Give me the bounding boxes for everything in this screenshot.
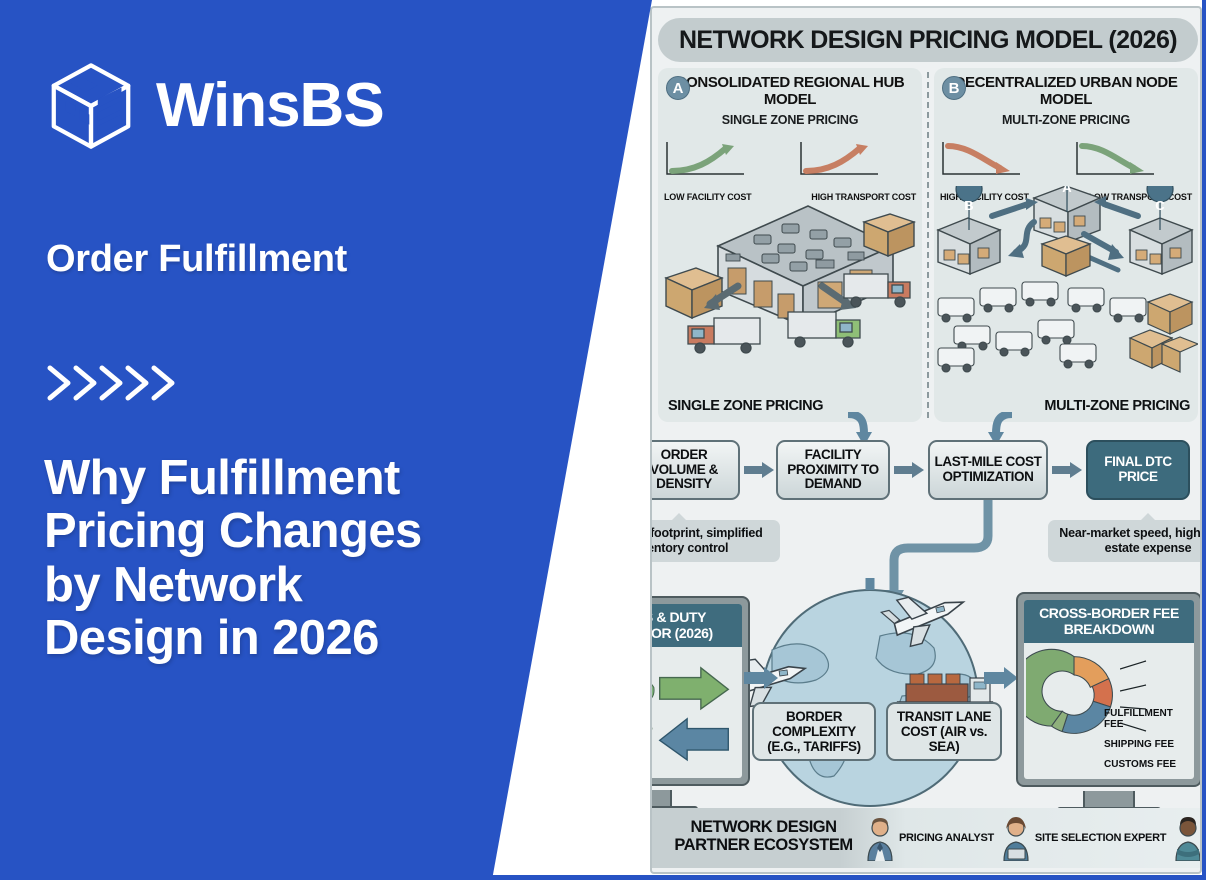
- customs-screen: CUSTOMS & DUTY CALCULATOR (2026): [650, 604, 742, 778]
- panel-b-minicharts: HIGH FACILITY COST LOW TRANSPORT COST: [940, 140, 1192, 188]
- model-comparison-panels: A CONSOLIDATED REGIONAL HUB MODEL SINGLE…: [658, 68, 1198, 422]
- persona-pricing-analyst[interactable]: PRICING ANALYST: [864, 817, 994, 861]
- brand-lockup[interactable]: WinsBS: [48, 62, 384, 150]
- globe-transit-illustration: [720, 578, 1020, 808]
- partner-ecosystem-footer: NETWORK DESIGN PARTNER ECOSYSTEM PRICING…: [652, 808, 1202, 868]
- legend-item-customs-fee: CUSTOMS FEE: [1104, 760, 1190, 771]
- cross-border-fee-monitor[interactable]: CROSS-BORDER FEE BREAKDOWN: [1016, 592, 1202, 787]
- flow-step-order-volume[interactable]: ORDER VOLUME & DENSITY: [650, 440, 740, 500]
- man-arms-crossed-avatar-icon: [1172, 817, 1202, 861]
- pill-border-complexity[interactable]: BORDER COMPLEXITY (E.G., TARIFFS): [752, 702, 876, 761]
- panel-a-subtitle: SINGLE ZONE PRICING: [658, 113, 922, 127]
- customs-to-globe-arrow-icon: [744, 666, 780, 690]
- minichart-high-transport-cost: HIGH TRANSPORT COST: [798, 140, 916, 188]
- flow-step-facility-proximity[interactable]: FACILITY PROXIMITY TO DEMAND: [776, 440, 890, 500]
- persona-site-selection-expert-label: SITE SELECTION EXPERT: [1035, 833, 1166, 845]
- legend-item-shipping-fee: SHIPPING FEE: [1104, 740, 1190, 751]
- fee-donut-chart: [1026, 647, 1122, 743]
- panel-b-subtitle: MULTI-ZONE PRICING: [934, 113, 1198, 127]
- panel-b-badge: B: [942, 76, 966, 100]
- pill-transit-lane-cost[interactable]: TRANSIT LANE COST (AIR vs. SEA): [886, 702, 1002, 761]
- persona-pricing-analyst-label: PRICING ANALYST: [899, 833, 994, 845]
- customs-duty-calculator-monitor[interactable]: CUSTOMS & DUTY CALCULATOR (2026): [650, 596, 750, 786]
- woman-laptop-avatar-icon: [1000, 817, 1032, 861]
- panel-decentralized-urban-node[interactable]: B DECENTRALIZED URBAN NODE MODEL MULTI-Z…: [934, 68, 1198, 422]
- panel-a-header: A CONSOLIDATED REGIONAL HUB MODEL SINGLE…: [658, 74, 922, 127]
- panel-a-title: CONSOLIDATED REGIONAL HUB MODEL: [658, 74, 922, 108]
- fee-legend: FULFILLMENT FEE SHIPPING FEE CUSTOMS FEE…: [1104, 709, 1190, 779]
- minichart-low-facility-cost: LOW FACILITY COST: [664, 140, 782, 188]
- footer-title: NETWORK DESIGN PARTNER ECOSYSTEM: [666, 818, 861, 855]
- legend-item-fulfillment-fee: FULFILLMENT FEE: [1104, 709, 1190, 731]
- globe-to-fee-arrow-icon: [984, 666, 1020, 690]
- customs-panel-title: CUSTOMS & DUTY CALCULATOR (2026): [650, 604, 742, 647]
- persona-tech-integrator[interactable]: TECH INTEGRATOR: [1172, 817, 1202, 861]
- warehouse-illustration: [658, 186, 922, 386]
- infographic-frame: NETWORK DESIGN PRICING MODEL (2026) A CO…: [650, 6, 1202, 874]
- panel-consolidated-regional-hub[interactable]: A CONSOLIDATED REGIONAL HUB MODEL SINGLE…: [658, 68, 922, 422]
- flow-to-globe-pipe: [788, 500, 1048, 610]
- flow-arrow-2-icon: [894, 462, 924, 478]
- fee-screen: CROSS-BORDER FEE BREAKDOWN: [1024, 600, 1194, 779]
- persona-list: PRICING ANALYST SITE SELECTION EXPERT: [864, 814, 1202, 864]
- flow-step-last-mile-cost[interactable]: LAST-MILE COST OPTIMIZATION: [928, 440, 1048, 500]
- customs-globe-arrows: [650, 647, 742, 767]
- cross-border-section: CUSTOMS & DUTY CALCULATOR (2026): [650, 578, 1202, 818]
- bottom-edge-accent: [0, 875, 1206, 880]
- svg-text:C: C: [1155, 198, 1165, 213]
- right-edge-accent: [1202, 0, 1206, 880]
- category-label: Order Fulfillment: [46, 238, 347, 281]
- monitor-stand-left: [650, 790, 672, 810]
- box-cube-logo-icon: [48, 62, 134, 150]
- minichart-high-facility-cost: HIGH FACILITY COST: [940, 140, 1058, 188]
- svg-text:A: A: [1062, 186, 1072, 195]
- persona-site-selection-expert[interactable]: SITE SELECTION EXPERT: [1000, 817, 1166, 861]
- panel-b-header: B DECENTRALIZED URBAN NODE MODEL MULTI-Z…: [934, 74, 1198, 127]
- fee-leader-lines: [1120, 647, 1148, 743]
- panel-b-title: DECENTRALIZED URBAN NODE MODEL: [934, 74, 1198, 108]
- panel-a-minicharts: LOW FACILITY COST HIGH TRANSPORT COST: [664, 140, 916, 188]
- flow-step-final-dtc-price[interactable]: FINAL DTC PRICE: [1086, 440, 1190, 500]
- man-suit-avatar-icon: [864, 817, 896, 861]
- callout-reduced-footprint: Reduced footprint, simplified inventory …: [650, 520, 780, 562]
- pricing-flow-chain: ORDER VOLUME & DENSITY FACILITY PROXIMIT…: [650, 440, 1040, 504]
- urban-nodes-illustration: A B: [934, 186, 1198, 386]
- callout-near-market-speed: Near-market speed, higher real estate ex…: [1048, 520, 1202, 562]
- panel-a-badge: A: [666, 76, 690, 100]
- infographic-title: NETWORK DESIGN PRICING MODEL (2026): [658, 18, 1198, 62]
- page-title: Why Fulfillment Pricing Changes by Netwo…: [44, 452, 474, 666]
- chevrons-right-icon: [46, 362, 196, 404]
- minichart-low-transport-cost: LOW TRANSPORT COST: [1074, 140, 1192, 188]
- fee-panel-title: CROSS-BORDER FEE BREAKDOWN: [1024, 600, 1194, 643]
- flow-arrow-1-icon: [744, 462, 774, 478]
- flow-arrow-3-icon: [1052, 462, 1082, 478]
- panel-divider: [927, 72, 929, 418]
- brand-name: WinsBS: [156, 75, 384, 137]
- poster-canvas: NETWORK DESIGN PRICING MODEL (2026) A CO…: [0, 0, 1206, 880]
- svg-text:B: B: [964, 198, 973, 213]
